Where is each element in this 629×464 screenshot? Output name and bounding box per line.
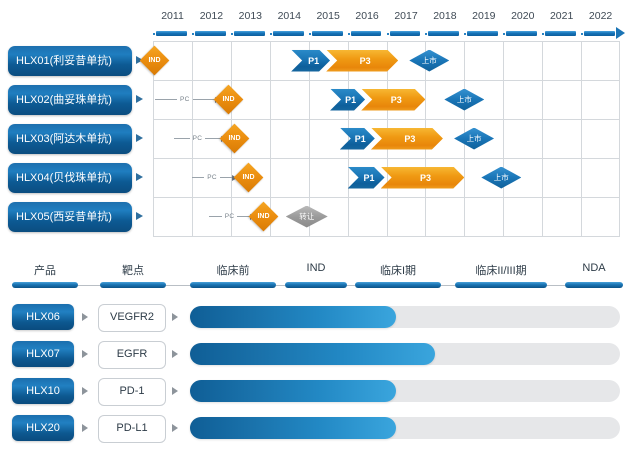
grid-hline <box>153 119 620 120</box>
axis-segment <box>312 31 343 36</box>
grid-hline <box>153 158 620 159</box>
phase-p1-label: P1 <box>345 95 356 105</box>
phase-p1-label: P1 <box>308 56 319 66</box>
pipeline-row: HLX10PD-1 <box>0 378 629 408</box>
timeline-product-pill[interactable]: HLX04(贝伐珠单抗) <box>8 163 132 193</box>
pipeline-section: 产品靶点临床前IND临床I期临床II/III期NDA HLX06VEGFR2HL… <box>0 262 629 464</box>
pipeline-header-connector <box>276 285 285 287</box>
pipeline-header-connector <box>78 285 100 287</box>
pipeline-product-code[interactable]: HLX07 <box>12 341 74 367</box>
grid-vline <box>619 41 620 237</box>
year-tick-2021: 2021 <box>542 10 581 25</box>
ind-milestone-diamond[interactable]: IND <box>233 163 263 193</box>
ind-label: IND <box>218 89 239 110</box>
pipeline-header-bar <box>565 282 623 288</box>
axis-dot <box>348 33 350 35</box>
phase-p3-label: P3 <box>404 134 415 144</box>
pc-label: PC <box>204 174 220 181</box>
year-tick-2011: 2011 <box>153 10 192 25</box>
grid-hline <box>153 236 620 237</box>
row-arrow-icon <box>82 424 88 432</box>
phase-p3-label: P3 <box>391 95 402 105</box>
ind-label: IND <box>238 167 259 188</box>
grid-vline <box>503 41 504 237</box>
axis-dot <box>425 33 427 35</box>
row-arrow-icon <box>82 313 88 321</box>
year-tick-2015: 2015 <box>309 10 348 25</box>
axis-dot <box>503 33 505 35</box>
pipeline-header-connector <box>347 285 355 287</box>
year-tick-2019: 2019 <box>464 10 503 25</box>
phase-p3-label: P3 <box>360 56 371 66</box>
year-tick-2020: 2020 <box>503 10 542 25</box>
axis-dot <box>153 33 155 35</box>
pc-label: PC <box>177 96 193 103</box>
market-launch-label: 上市 <box>481 167 521 189</box>
year-tick-2016: 2016 <box>348 10 387 25</box>
pipeline-row: HLX20PD-L1 <box>0 415 629 445</box>
year-tick-2022: 2022 <box>581 10 620 25</box>
pill-arrow-icon <box>136 212 143 220</box>
pc-line <box>192 177 204 178</box>
preclinical-connector: PC <box>155 94 221 106</box>
axis-dot <box>542 33 544 35</box>
market-launch-label: 上市 <box>454 128 494 150</box>
axis-dot <box>192 33 194 35</box>
pipeline-header-bar <box>100 282 166 288</box>
pipeline-progress-fill <box>190 380 396 402</box>
pipeline-header-bar <box>455 282 547 288</box>
pipeline-progress-track[interactable] <box>190 380 620 402</box>
pc-line <box>155 99 177 100</box>
axis-segment <box>156 31 187 36</box>
axis-dot <box>387 33 389 35</box>
pipeline-column-header: 临床II/III期 <box>455 262 547 278</box>
pc-line <box>205 138 220 139</box>
row-arrow-icon <box>172 424 178 432</box>
axis-segment <box>195 31 226 36</box>
axis-arrow-icon <box>616 27 625 39</box>
transfer-label: 转让 <box>286 206 328 228</box>
pipeline-progress-track[interactable] <box>190 306 620 328</box>
axis-dot <box>309 33 311 35</box>
axis-dot <box>270 33 272 35</box>
timeline-axis-bar <box>153 31 616 36</box>
pc-label: PC <box>222 213 238 220</box>
pill-arrow-icon <box>136 95 143 103</box>
pipeline-progress-fill <box>190 343 435 365</box>
row-arrow-icon <box>172 387 178 395</box>
axis-segment <box>467 31 498 36</box>
transfer-diamond[interactable]: 转让 <box>286 206 328 228</box>
timeline-product-pill[interactable]: HLX01(利妥昔单抗) <box>8 46 132 76</box>
axis-segment <box>234 31 265 36</box>
year-tick-2018: 2018 <box>425 10 464 25</box>
grid-hline <box>153 80 620 81</box>
pipeline-row: HLX07EGFR <box>0 341 629 371</box>
market-launch-diamond[interactable]: 上市 <box>409 50 449 72</box>
axis-dot <box>581 33 583 35</box>
timeline-product-pill[interactable]: HLX02(曲妥珠单抗) <box>8 85 132 115</box>
pipeline-product-code[interactable]: HLX10 <box>12 378 74 404</box>
pipeline-column-header: IND <box>285 262 347 274</box>
grid-hline <box>153 41 620 42</box>
row-arrow-icon <box>172 313 178 321</box>
timeline-product-pill[interactable]: HLX03(阿达木单抗) <box>8 124 132 154</box>
pipeline-target-chip[interactable]: PD-L1 <box>98 415 166 443</box>
axis-segment <box>545 31 576 36</box>
axis-segment <box>390 31 421 36</box>
pc-label: PC <box>190 135 206 142</box>
pipeline-header-bar <box>285 282 347 288</box>
pc-line <box>209 216 221 217</box>
market-launch-diamond[interactable]: 上市 <box>481 167 521 189</box>
pipeline-progress-track[interactable] <box>190 343 620 365</box>
market-launch-diamond[interactable]: 上市 <box>454 128 494 150</box>
timeline-section: 2011201220132014201520162017201820192020… <box>0 0 629 252</box>
pipeline-column-header: 产品 <box>12 262 78 278</box>
pipeline-target-chip[interactable]: PD-1 <box>98 378 166 406</box>
grid-hline <box>153 197 620 198</box>
axis-dot <box>231 33 233 35</box>
pipeline-header-connector <box>547 285 565 287</box>
pill-arrow-icon <box>136 134 143 142</box>
pipeline-header-bar <box>12 282 78 288</box>
axis-segment <box>351 31 382 36</box>
phase-p1-label: P1 <box>355 134 366 144</box>
phase-p3-label: P3 <box>420 173 431 183</box>
pipeline-target-chip[interactable]: VEGFR2 <box>98 304 166 332</box>
pipeline-column-header: 临床前 <box>190 262 276 278</box>
phase-p1-label: P1 <box>364 173 375 183</box>
pc-line <box>193 99 215 100</box>
pipeline-progress-fill <box>190 306 396 328</box>
grid-vline <box>581 41 582 237</box>
pipeline-progress-fill <box>190 417 396 439</box>
timeline-product-pill[interactable]: HLX05(西妥昔单抗) <box>8 202 132 232</box>
axis-segment <box>273 31 304 36</box>
row-arrow-icon <box>82 350 88 358</box>
year-tick-2014: 2014 <box>270 10 309 25</box>
pipeline-header-connector <box>166 285 190 287</box>
year-tick-2012: 2012 <box>192 10 231 25</box>
grid-vline <box>542 41 543 237</box>
axis-segment <box>584 31 615 36</box>
axis-dot <box>464 33 466 35</box>
pipeline-column-header: 临床I期 <box>355 262 441 278</box>
pc-line <box>174 138 189 139</box>
axis-segment <box>506 31 537 36</box>
ind-label: IND <box>224 128 245 149</box>
market-launch-diamond[interactable]: 上市 <box>444 89 484 111</box>
pipeline-progress-track[interactable] <box>190 417 620 439</box>
pill-arrow-icon <box>136 173 143 181</box>
axis-segment <box>428 31 459 36</box>
pipeline-product-code[interactable]: HLX20 <box>12 415 74 441</box>
ind-label: IND <box>144 50 165 71</box>
preclinical-connector: PC <box>192 172 239 184</box>
pipeline-column-header: 靶点 <box>100 262 166 278</box>
year-tick-2013: 2013 <box>231 10 270 25</box>
market-launch-label: 上市 <box>444 89 484 111</box>
pipeline-product-code[interactable]: HLX06 <box>12 304 74 330</box>
row-arrow-icon <box>82 387 88 395</box>
year-tick-2017: 2017 <box>387 10 426 25</box>
pipeline-header-bar <box>190 282 276 288</box>
pipeline-column-header: NDA <box>565 262 623 274</box>
pc-line <box>220 177 232 178</box>
pipeline-row: HLX06VEGFR2 <box>0 304 629 334</box>
row-arrow-icon <box>172 350 178 358</box>
phase-p3-chevron[interactable]: P3 <box>381 167 465 189</box>
pipeline-header-connector <box>441 285 455 287</box>
pipeline-header-bar <box>355 282 441 288</box>
ind-label: IND <box>253 206 274 227</box>
market-launch-label: 上市 <box>409 50 449 72</box>
pipeline-target-chip[interactable]: EGFR <box>98 341 166 369</box>
